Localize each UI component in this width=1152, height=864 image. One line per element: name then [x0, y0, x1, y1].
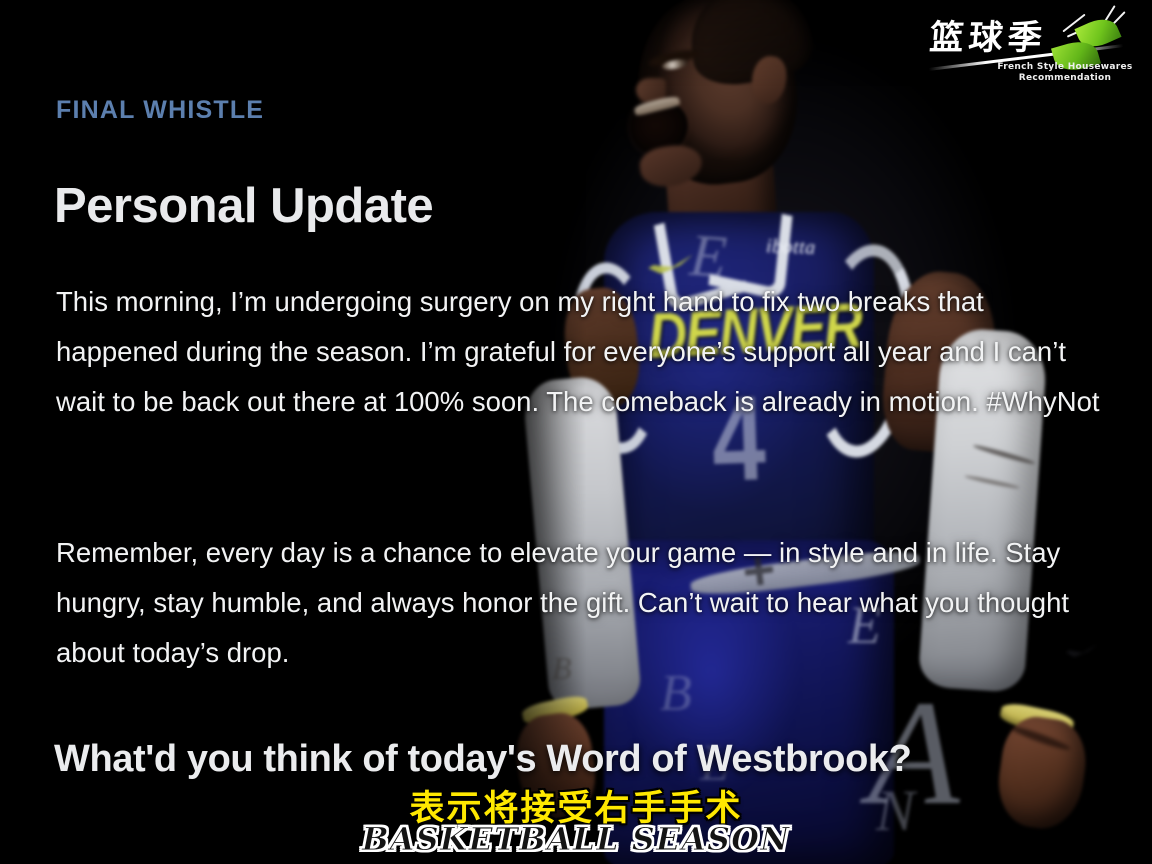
page-title: Personal Update — [54, 178, 433, 234]
watermark-tagline: French Style Housewares Recommendation — [990, 62, 1140, 84]
watermark-brand-name: 篮球季 — [928, 10, 1049, 59]
watermark-tagline-line-1: French Style Housewares — [990, 62, 1140, 73]
watermark-tagline-line-2: Recommendation — [990, 73, 1140, 84]
eyebrow-label: FINAL WHISTLE — [56, 96, 264, 125]
body-paragraph-1: This morning, I’m undergoing surgery on … — [56, 277, 1101, 427]
body-paragraph-2: Remember, every day is a chance to eleva… — [56, 528, 1101, 678]
post-text-overlay: FINAL WHISTLE Personal Update This morni… — [0, 0, 1152, 864]
subtitle-english: BASKETBALL SEASON — [0, 820, 1152, 858]
engagement-question: What'd you think of today's Word of West… — [54, 738, 1114, 781]
video-frame: E ibotta DENVER 4 B L E A N B FINAL WHIS… — [0, 0, 1152, 864]
channel-watermark: 篮球季 French Style Housewares Recommendati… — [928, 4, 1142, 88]
